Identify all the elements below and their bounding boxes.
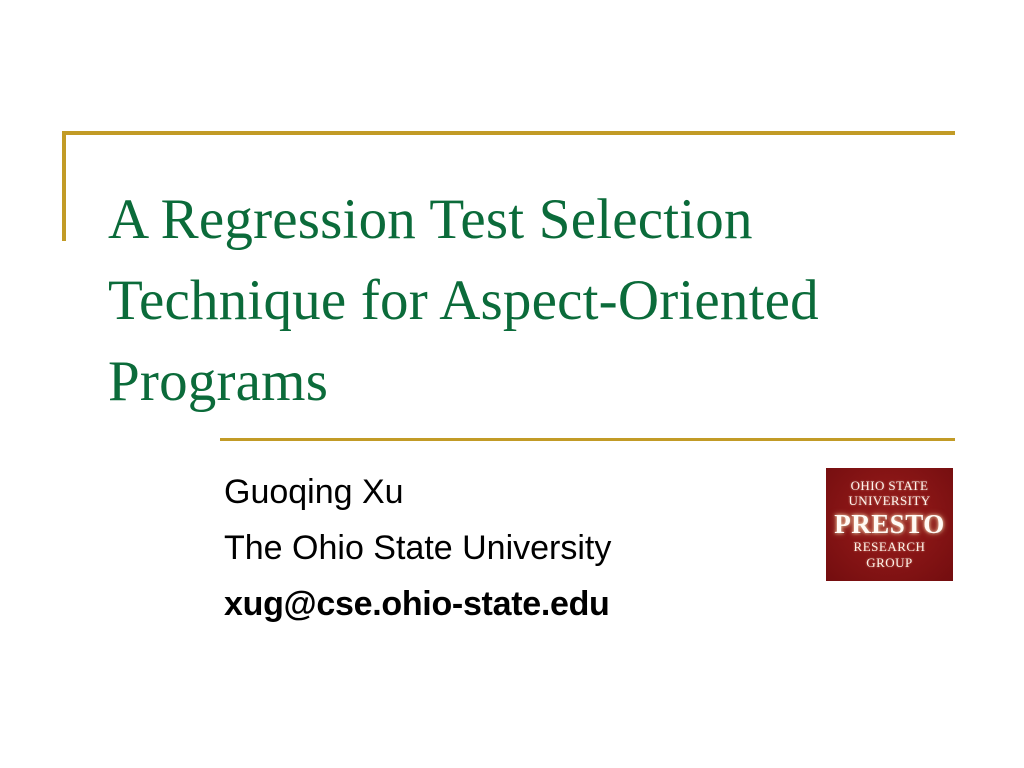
logo-line-research: RESEARCH (854, 539, 926, 555)
title-frame-left-rule (62, 131, 66, 241)
logo-line-ohio-state: OHIO STATE (851, 478, 929, 493)
logo-wordmark-presto: PRESTO (834, 510, 945, 539)
author-name: Guoqing Xu (224, 464, 804, 520)
slide-title: A Regression Test Selection Technique fo… (108, 180, 908, 423)
author-email: xug@cse.ohio-state.edu (224, 576, 804, 632)
logo-line-university: UNIVERSITY (849, 493, 931, 508)
title-frame-top-rule (62, 131, 955, 135)
author-block: Guoqing Xu The Ohio State University xug… (224, 464, 804, 632)
presto-research-group-logo: OHIO STATE UNIVERSITY PRESTO RESEARCH GR… (826, 468, 953, 581)
logo-line-group: GROUP (866, 555, 913, 571)
author-affiliation: The Ohio State University (224, 520, 804, 576)
title-divider-rule (220, 438, 955, 441)
presentation-slide: A Regression Test Selection Technique fo… (0, 0, 1024, 768)
